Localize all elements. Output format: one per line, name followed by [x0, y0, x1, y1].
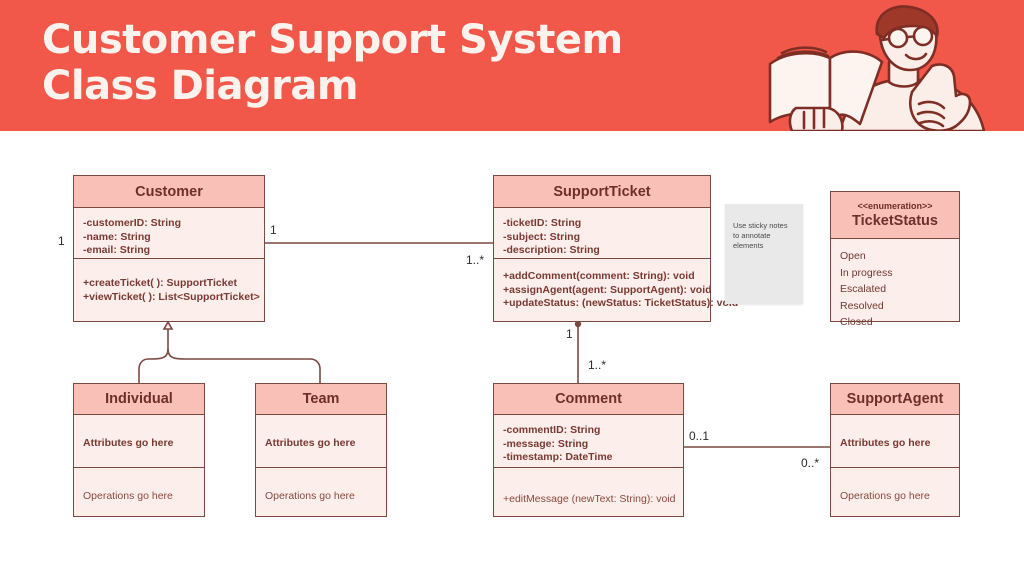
class-attributes-customer: -customerID: String -name: String -email… [74, 208, 264, 258]
class-name-customer: Customer [135, 183, 203, 201]
class-header-ticketstatus: <<enumeration>> TicketStatus [831, 192, 959, 239]
operation-row: Operations go here [83, 490, 195, 504]
operation-row: +createTicket( ): SupportTicket [83, 277, 255, 291]
class-header-comment: Comment [494, 384, 683, 415]
class-box-team[interactable]: Team Attributes go here Operations go he… [255, 383, 387, 517]
attribute-row: -email: String [83, 244, 255, 258]
enum-value-row: Resolved [840, 298, 950, 315]
operation-row: Operations go here [840, 490, 950, 504]
multiplicity-customer-left: 1 [58, 234, 65, 248]
operation-row: +assignAgent(agent: SupportAgent): void [503, 284, 701, 298]
multiplicity-customer-right: 1 [270, 223, 277, 237]
class-operations-supportticket: +addComment(comment: String): void +assi… [494, 258, 710, 321]
class-box-ticketstatus[interactable]: <<enumeration>> TicketStatus Open In pro… [830, 191, 960, 322]
class-attributes-comment: -commentID: String -message: String -tim… [494, 415, 683, 467]
enum-value-row: Closed [840, 314, 950, 331]
class-attributes-supportticket: -ticketID: String -subject: String -desc… [494, 208, 710, 258]
class-box-customer[interactable]: Customer -customerID: String -name: Stri… [73, 175, 265, 322]
diagram-canvas: Customer -customerID: String -name: Stri… [0, 131, 1024, 576]
class-attributes-individual: Attributes go here [74, 415, 204, 467]
class-operations-team: Operations go here [256, 467, 386, 518]
edge-customer-team [168, 349, 320, 383]
operation-row: Operations go here [265, 490, 377, 504]
class-operations-comment: +editMessage (newText: String): void [494, 467, 683, 518]
page-title: Customer Support System Class Diagram [42, 17, 623, 109]
multiplicity-comment-top: 1..* [588, 358, 606, 372]
sticky-note-text: Use sticky notes to annotate elements [733, 221, 788, 250]
class-operations-supportagent: Operations go here [831, 467, 959, 518]
attribute-row: -description: String [503, 244, 701, 258]
multiplicity-supportagent-left: 0..* [801, 456, 819, 470]
enum-value-row: In progress [840, 265, 950, 282]
class-name-supportticket: SupportTicket [553, 183, 650, 201]
class-name-comment: Comment [555, 390, 622, 408]
class-operations-individual: Operations go here [74, 467, 204, 518]
enum-value-row: Escalated [840, 281, 950, 298]
attribute-row: -ticketID: String [503, 217, 701, 231]
attribute-row: -timestamp: DateTime [503, 451, 674, 465]
attribute-row: -name: String [83, 231, 255, 245]
class-box-supportticket[interactable]: SupportTicket -ticketID: String -subject… [493, 175, 711, 322]
operation-row: +addComment(comment: String): void [503, 270, 701, 284]
generalization-arrowhead [164, 322, 172, 329]
operation-row: +editMessage (newText: String): void [503, 493, 674, 507]
multiplicity-supportticket-bottom: 1 [566, 327, 573, 341]
header-banner: Customer Support System Class Diagram [0, 0, 1024, 131]
attribute-row: Attributes go here [83, 437, 195, 451]
attribute-row: -commentID: String [503, 424, 674, 438]
class-stereotype-ticketstatus: <<enumeration>> [857, 200, 932, 212]
header-illustration [756, 0, 1016, 131]
enumeration-values: Open In progress Escalated Resolved Clos… [831, 239, 959, 323]
operation-row: +viewTicket( ): List<SupportTicket> [83, 291, 255, 305]
class-box-supportagent[interactable]: SupportAgent Attributes go here Operatio… [830, 383, 960, 517]
multiplicity-supportticket-left: 1..* [466, 253, 484, 267]
class-box-comment[interactable]: Comment -commentID: String -message: Str… [493, 383, 684, 517]
attribute-row: Attributes go here [840, 437, 950, 451]
class-box-individual[interactable]: Individual Attributes go here Operations… [73, 383, 205, 517]
class-header-individual: Individual [74, 384, 204, 415]
attribute-row: Attributes go here [265, 437, 377, 451]
attribute-row: -message: String [503, 438, 674, 452]
edge-customer-individual [139, 349, 168, 383]
class-header-customer: Customer [74, 176, 264, 208]
attribute-row: -customerID: String [83, 217, 255, 231]
class-attributes-team: Attributes go here [256, 415, 386, 467]
class-operations-customer: +createTicket( ): SupportTicket +viewTic… [74, 258, 264, 321]
multiplicity-comment-right: 0..1 [689, 429, 709, 443]
class-name-supportagent: SupportAgent [847, 390, 944, 408]
class-header-supportagent: SupportAgent [831, 384, 959, 415]
class-name-team: Team [303, 390, 340, 408]
class-name-individual: Individual [105, 390, 173, 408]
enum-value-row: Open [840, 248, 950, 265]
operation-row: +updateStatus: (newStatus: TicketStatus)… [503, 297, 701, 311]
attribute-row: -subject: String [503, 231, 701, 245]
class-attributes-supportagent: Attributes go here [831, 415, 959, 467]
class-header-team: Team [256, 384, 386, 415]
class-header-supportticket: SupportTicket [494, 176, 710, 208]
class-name-ticketstatus: TicketStatus [852, 212, 938, 230]
sticky-note[interactable]: Use sticky notes to annotate elements [725, 204, 803, 304]
